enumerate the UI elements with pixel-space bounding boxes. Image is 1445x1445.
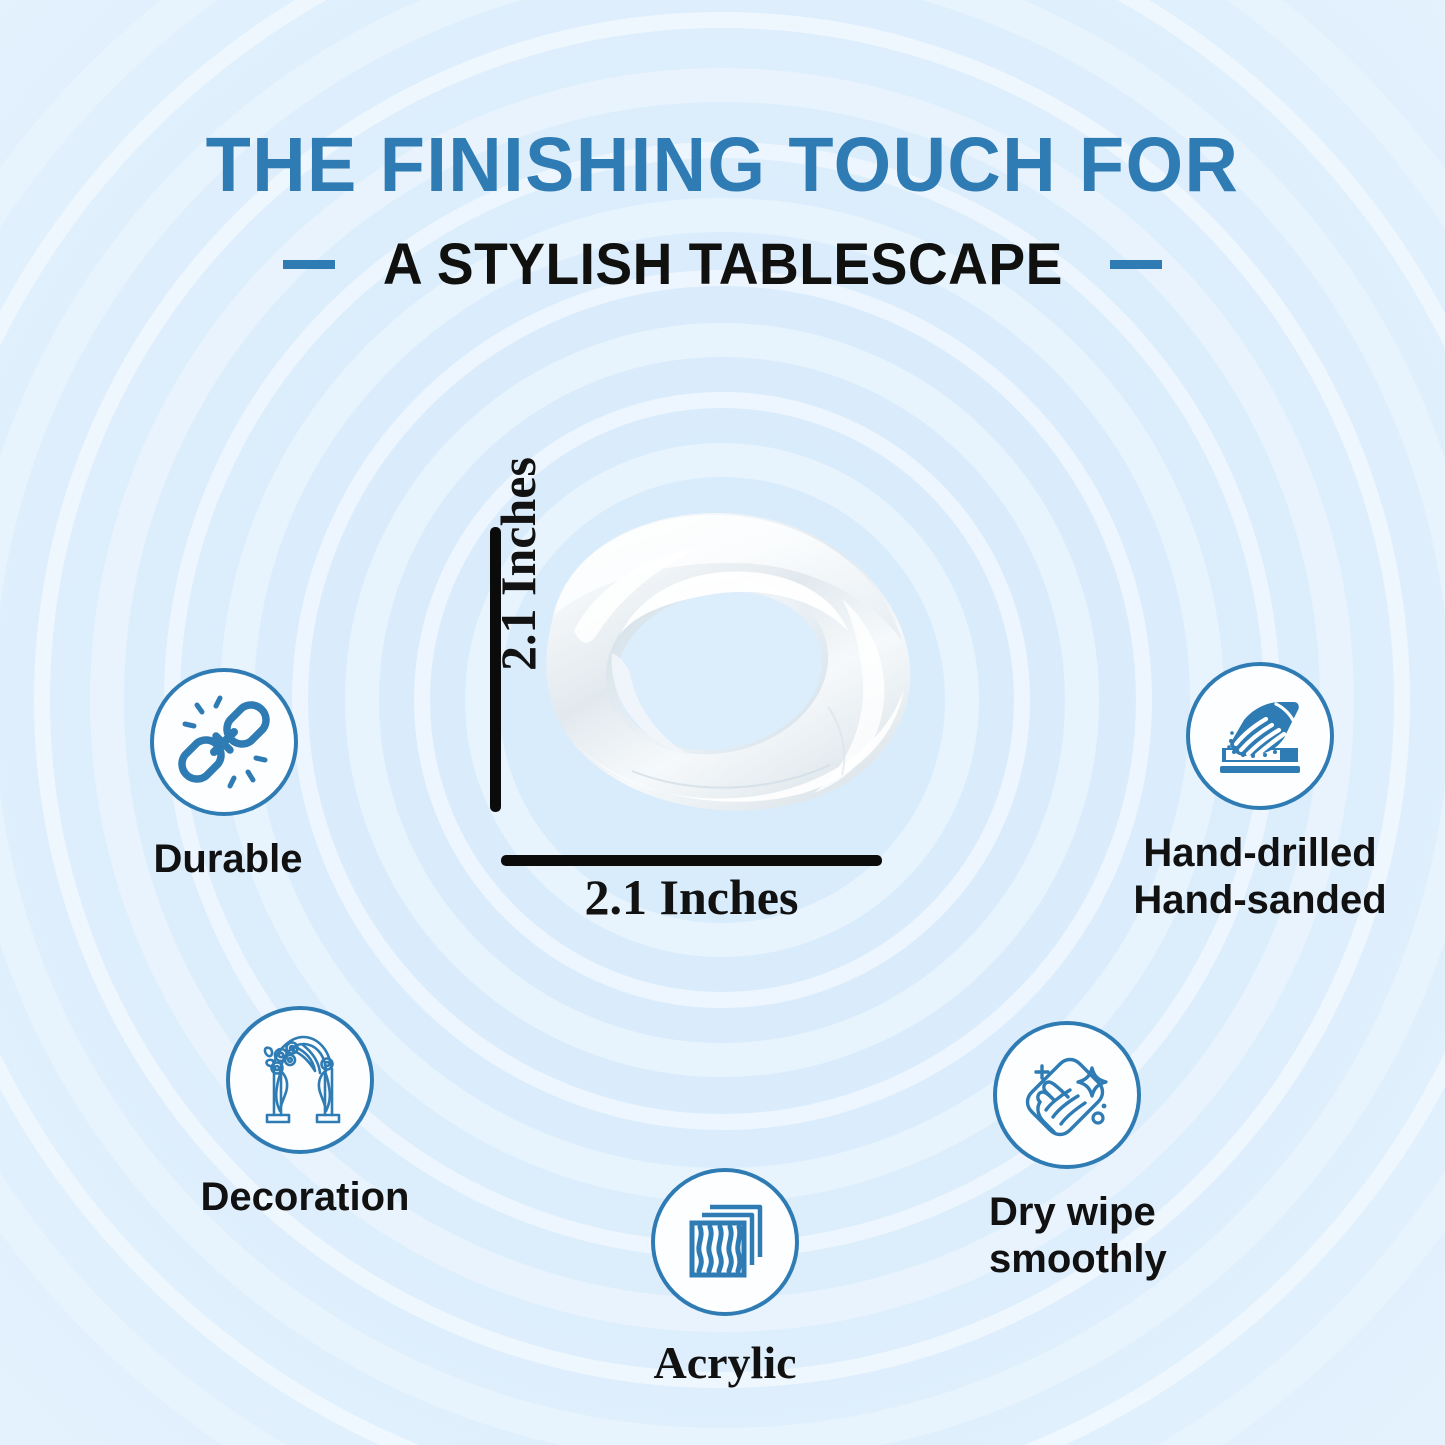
feature-hand-drilled: Hand-drilled Hand-sanded (1104, 662, 1416, 924)
acrylic-sheets-icon (676, 1193, 774, 1291)
feature-decoration: Decoration (135, 1006, 475, 1221)
dimension-bar-horizontal (501, 855, 882, 866)
headline-block: THE FINISHING TOUCH FOR A STYLISH TABLES… (0, 126, 1445, 298)
feature-dry-wipe: Dry wipe smoothly (985, 1021, 1275, 1283)
headline-line-1: THE FINISHING TOUCH FOR (29, 126, 1416, 205)
infographic-canvas: THE FINISHING TOUCH FOR A STYLISH TABLES… (0, 0, 1445, 1445)
dimension-label-width: 2.1 Inches (501, 868, 882, 926)
dimension-label-height: 2.1 Inches (489, 429, 547, 699)
chain-link-icon (172, 690, 276, 794)
feature-durable-label: Durable (103, 836, 353, 883)
feature-hand-drilled-label: Hand-drilled Hand-sanded (1104, 830, 1416, 924)
headline-line-2: A STYLISH TABLESCAPE (383, 231, 1063, 298)
hand-wiping-cloth-icon (1016, 1044, 1118, 1146)
feature-dry-wipe-circle (993, 1021, 1141, 1169)
feature-acrylic-label: Acrylic (600, 1336, 850, 1390)
dash-left-icon (283, 260, 335, 269)
feature-decoration-circle (226, 1006, 374, 1154)
acrylic-napkin-ring-image (512, 503, 924, 848)
feature-acrylic-circle (651, 1168, 799, 1316)
feature-decoration-label: Decoration (135, 1174, 475, 1221)
dash-right-icon (1110, 260, 1162, 269)
headline-subtitle-row: A STYLISH TABLESCAPE (0, 231, 1445, 298)
floral-arch-icon (247, 1027, 353, 1133)
hand-sanding-icon (1210, 686, 1310, 786)
feature-durable: Durable (103, 668, 353, 883)
feature-acrylic: Acrylic (600, 1168, 850, 1390)
feature-hand-drilled-circle (1186, 662, 1334, 810)
feature-dry-wipe-label: Dry wipe smoothly (989, 1189, 1275, 1283)
feature-durable-circle (150, 668, 298, 816)
